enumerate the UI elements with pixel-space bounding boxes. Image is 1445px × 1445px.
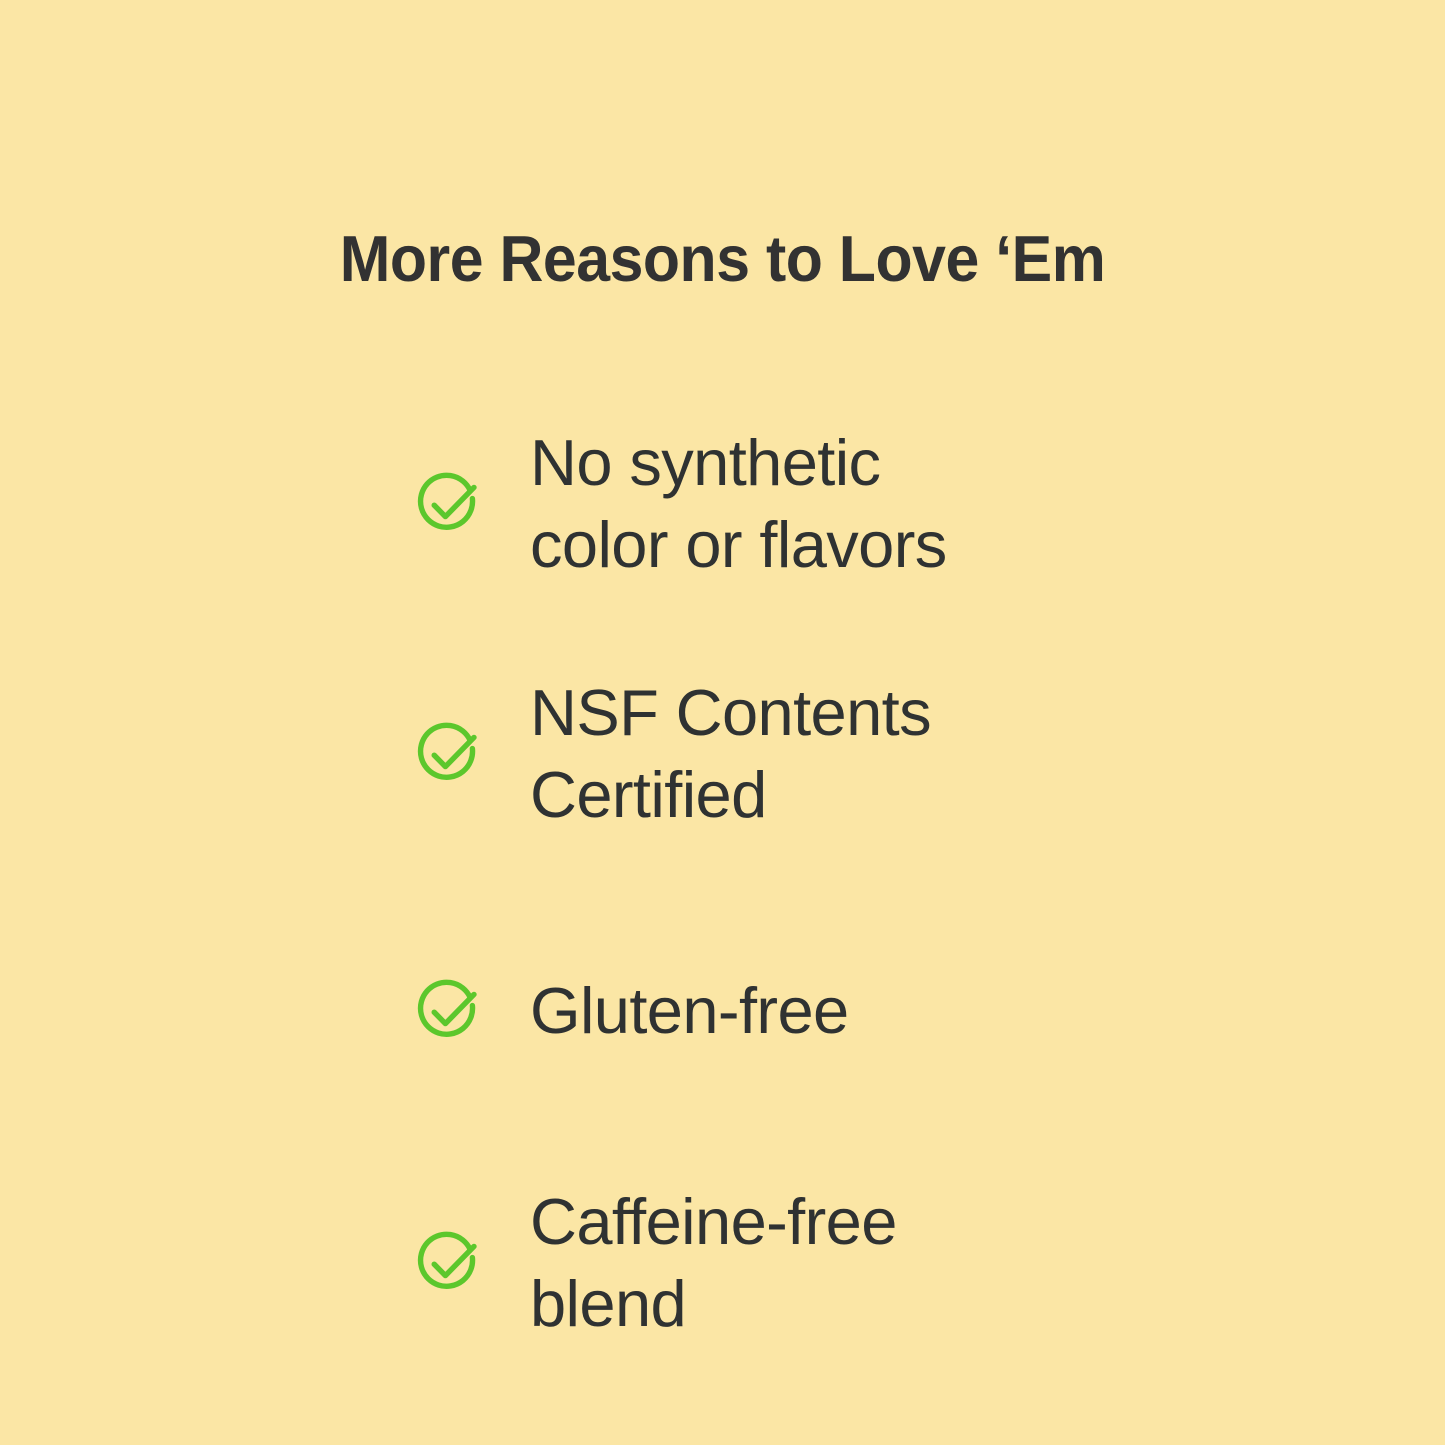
check-circle-icon	[414, 1228, 484, 1298]
check-circle-icon-cell	[406, 976, 530, 1046]
list-item: No synthetic color or flavors	[406, 420, 1106, 588]
check-circle-icon	[414, 976, 484, 1046]
list-item-label: NSF Contents Certified	[530, 672, 1106, 836]
benefits-panel: More Reasons to Love ‘Em No synthetic co…	[0, 0, 1445, 1445]
benefits-list: No synthetic color or flavors NSF Conten…	[406, 420, 1106, 1347]
list-item: Caffeine-free blend	[406, 1179, 1106, 1347]
check-circle-icon	[414, 719, 484, 789]
list-item-label: Gluten-free	[530, 970, 1106, 1052]
page-title: More Reasons to Love ‘Em	[47, 222, 1398, 296]
list-item-label: Caffeine-free blend	[530, 1181, 1106, 1345]
check-circle-icon-cell	[406, 719, 530, 789]
list-item: NSF Contents Certified	[406, 670, 1106, 838]
list-item: Gluten-free	[406, 969, 1106, 1053]
check-circle-icon-cell	[406, 469, 530, 539]
check-circle-icon-cell	[406, 1228, 530, 1298]
list-item-label: No synthetic color or flavors	[530, 422, 1106, 586]
check-circle-icon	[414, 469, 484, 539]
